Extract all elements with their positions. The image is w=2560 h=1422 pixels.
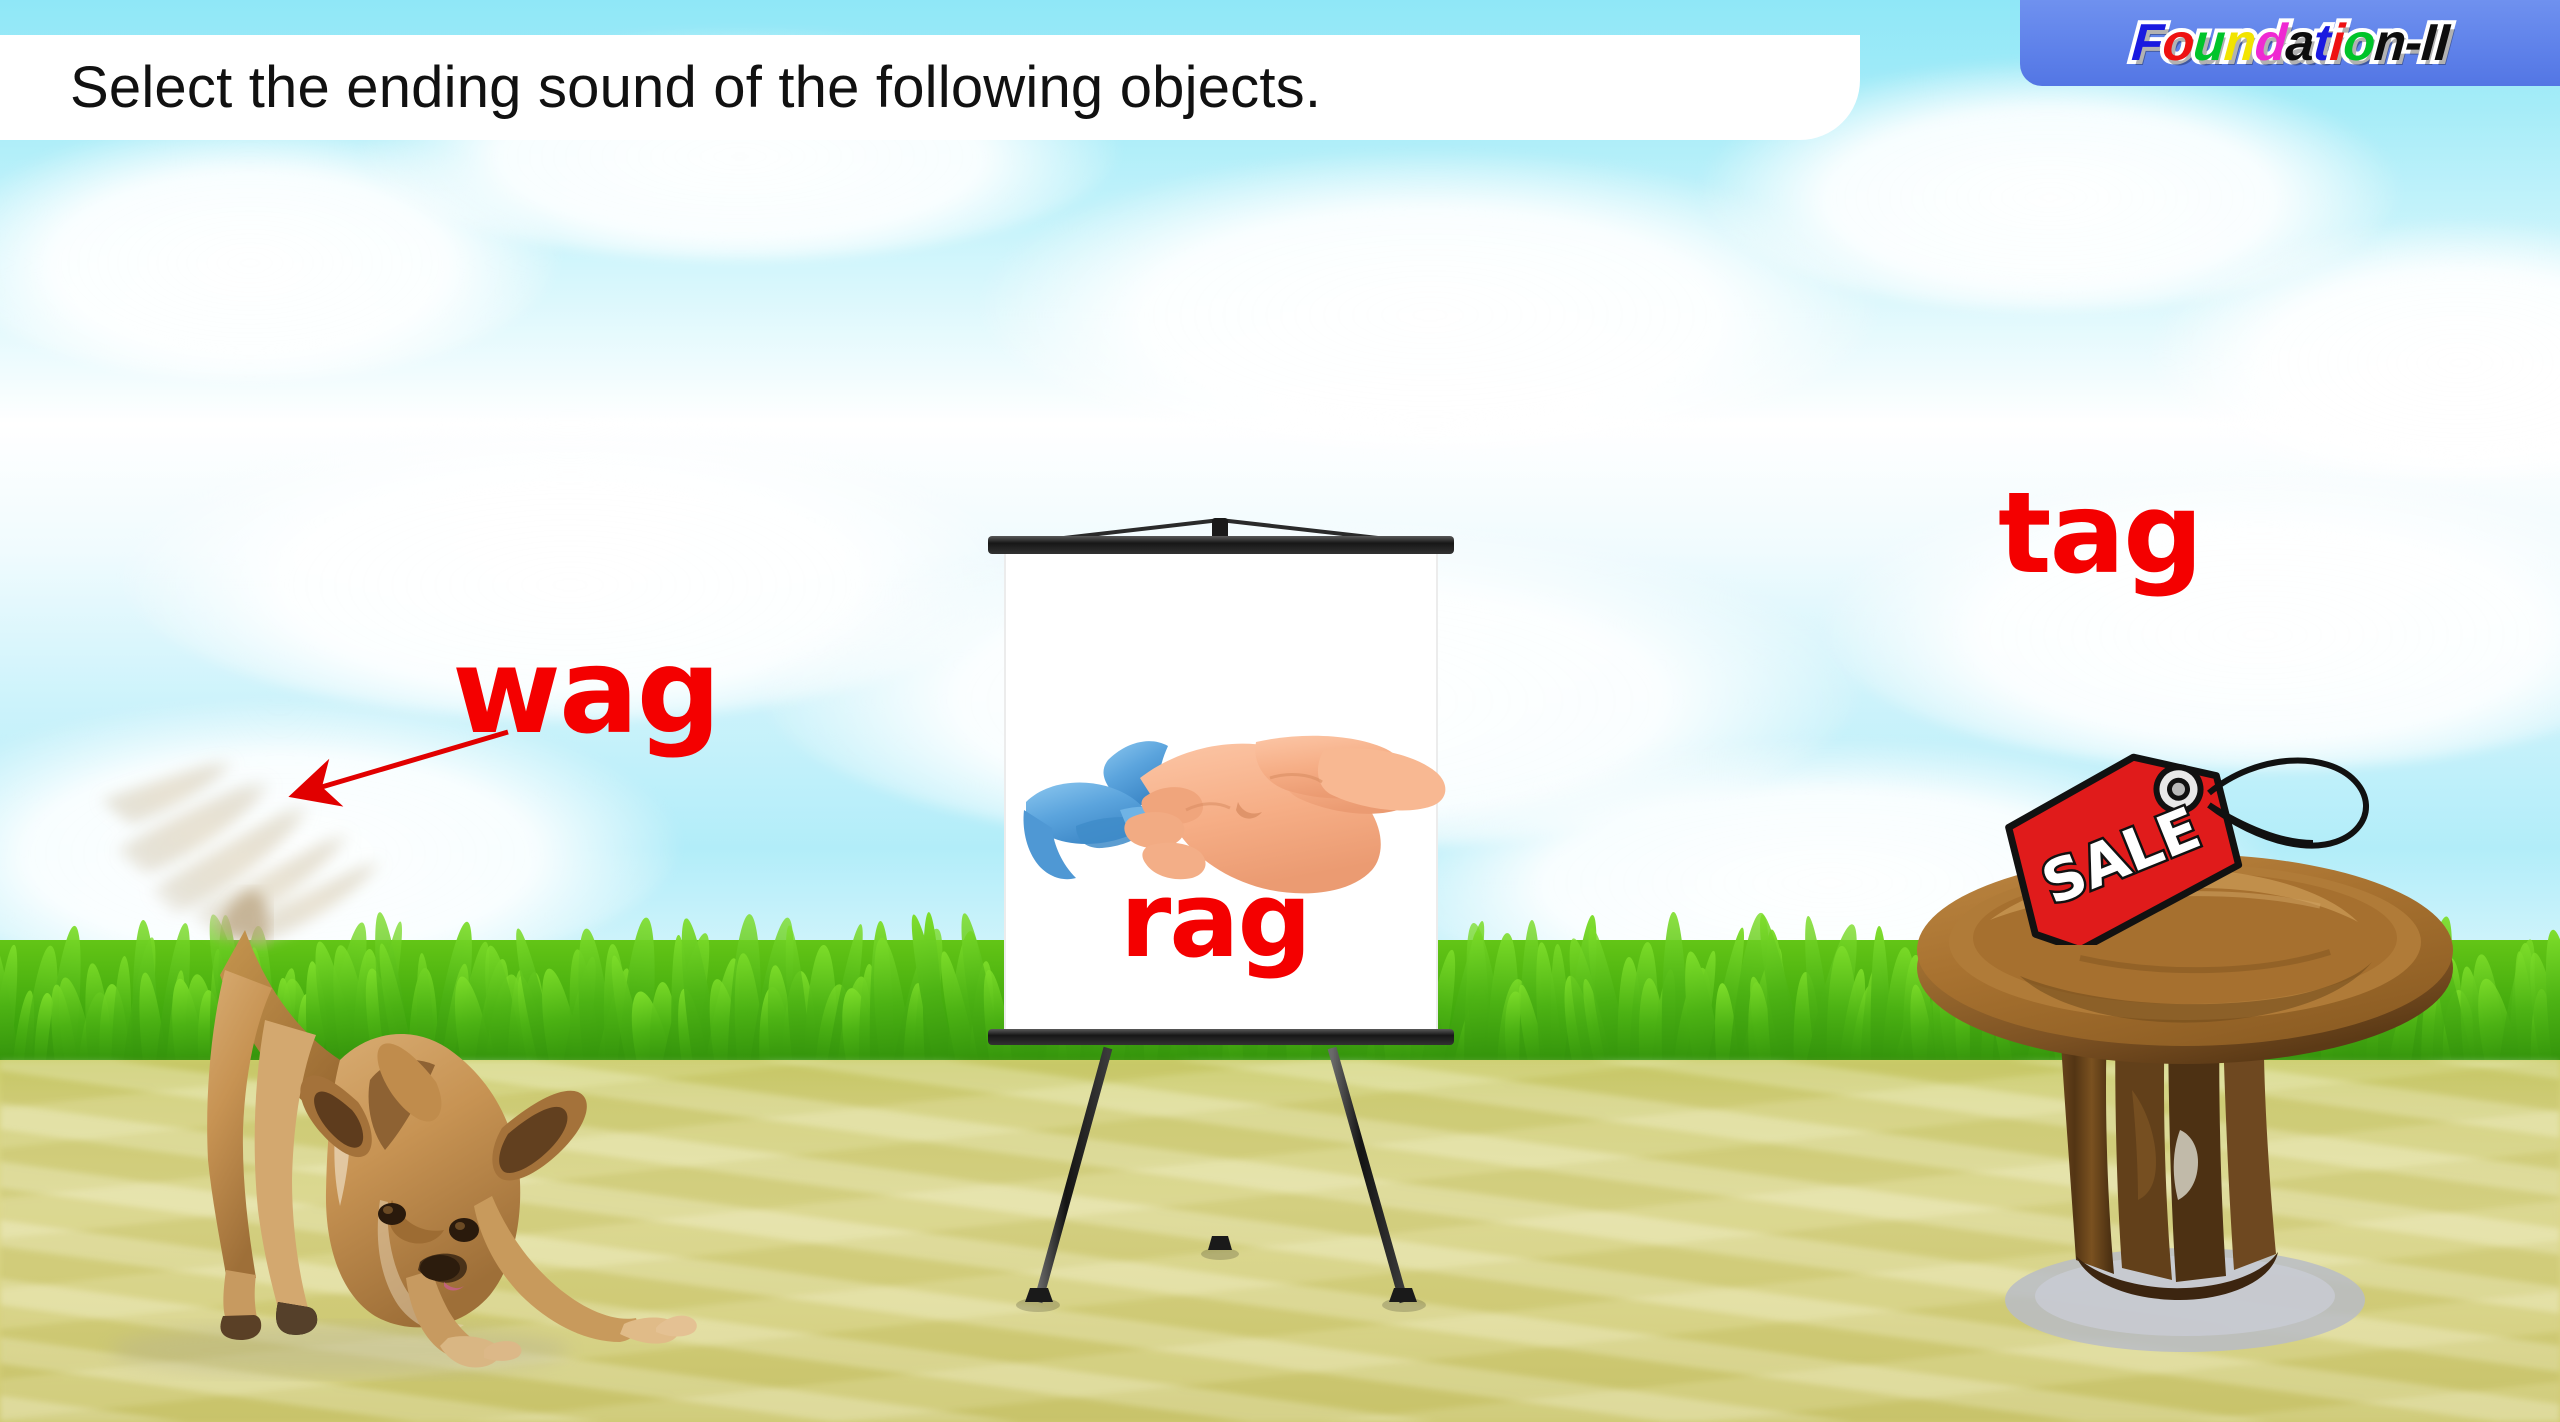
logo-letter-5: a <box>2284 14 2316 72</box>
logo-letter-1: o <box>2161 14 2196 72</box>
logo-letter-12: I <box>2433 14 2451 72</box>
word-label-rag: rag <box>1120 868 1310 972</box>
logo-letter-4: d <box>2253 14 2288 72</box>
instruction-text: Select the ending sound of the following… <box>70 54 1321 121</box>
logo-letter-0: F <box>2130 14 2165 72</box>
logo-letter-9: n <box>2372 14 2407 72</box>
word-label-wag: wag <box>452 632 719 750</box>
instruction-banner: Select the ending sound of the following… <box>0 35 1860 140</box>
dog-illustration <box>40 730 740 1390</box>
foundation-logo-badge: Foundation-II <box>2020 0 2560 86</box>
logo-letter-3: n <box>2222 14 2257 72</box>
logo-letter-8: o <box>2341 14 2376 72</box>
easel-legs <box>1016 1048 1426 1312</box>
foundation-logo-text: Foundation-II <box>2130 13 2450 73</box>
word-label-tag: tag <box>1998 478 2201 590</box>
logo-letter-2: u <box>2191 14 2226 72</box>
sale-price-tag: SALE <box>1995 735 2415 945</box>
